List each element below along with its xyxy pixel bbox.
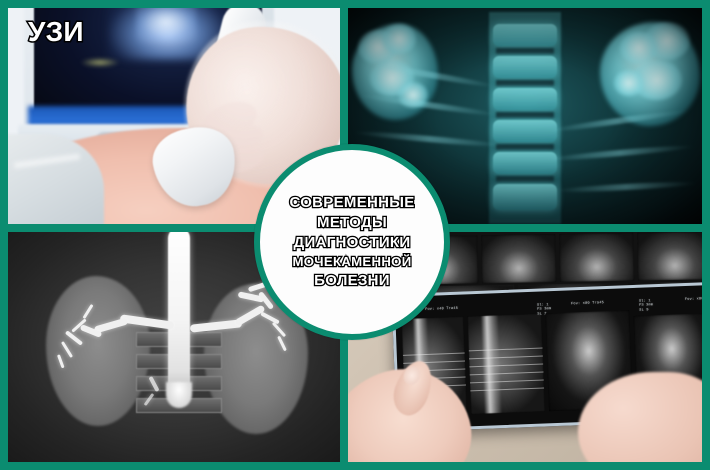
title-line-1: СОВРЕМЕННЫЕ [289, 193, 414, 213]
abdominal-aorta [168, 232, 190, 396]
title-line-5: БОЛЕЗНИ [314, 271, 390, 291]
ultrasound-measurement-marker [80, 58, 120, 67]
coronal-slice-4 [637, 232, 702, 281]
title-line-2: МЕТОДЫ [317, 213, 387, 233]
slice-tag-1: Fov: x40 Tra45 [425, 307, 458, 313]
ultrasound-scan-highlight [136, 8, 196, 42]
title-line-4: МОЧЕКАМЕННОЙ [292, 253, 411, 271]
coronal-slice-3 [559, 233, 634, 282]
slice-tag-5: Fov: x80 Tra45 [685, 297, 702, 303]
slice-tag-3: Fov: x80 Tra45 [571, 301, 604, 307]
coronal-slice-2 [481, 234, 556, 283]
poster-collage: УЗИ [0, 0, 710, 470]
title-line-3: ДИАГНОСТИКИ [294, 233, 411, 253]
aorta-bifurcation [166, 382, 192, 408]
center-title-badge: СОВРЕМЕННЫЕ МЕТОДЫ ДИАГНОСТИКИ МОЧЕКАМЕН… [254, 144, 450, 340]
sagittal-slice-2 [467, 314, 545, 415]
slice-tag-4: Sl: 1 FS 3mm SL 9 [639, 299, 654, 313]
label-ultrasound: УЗИ [28, 16, 84, 48]
